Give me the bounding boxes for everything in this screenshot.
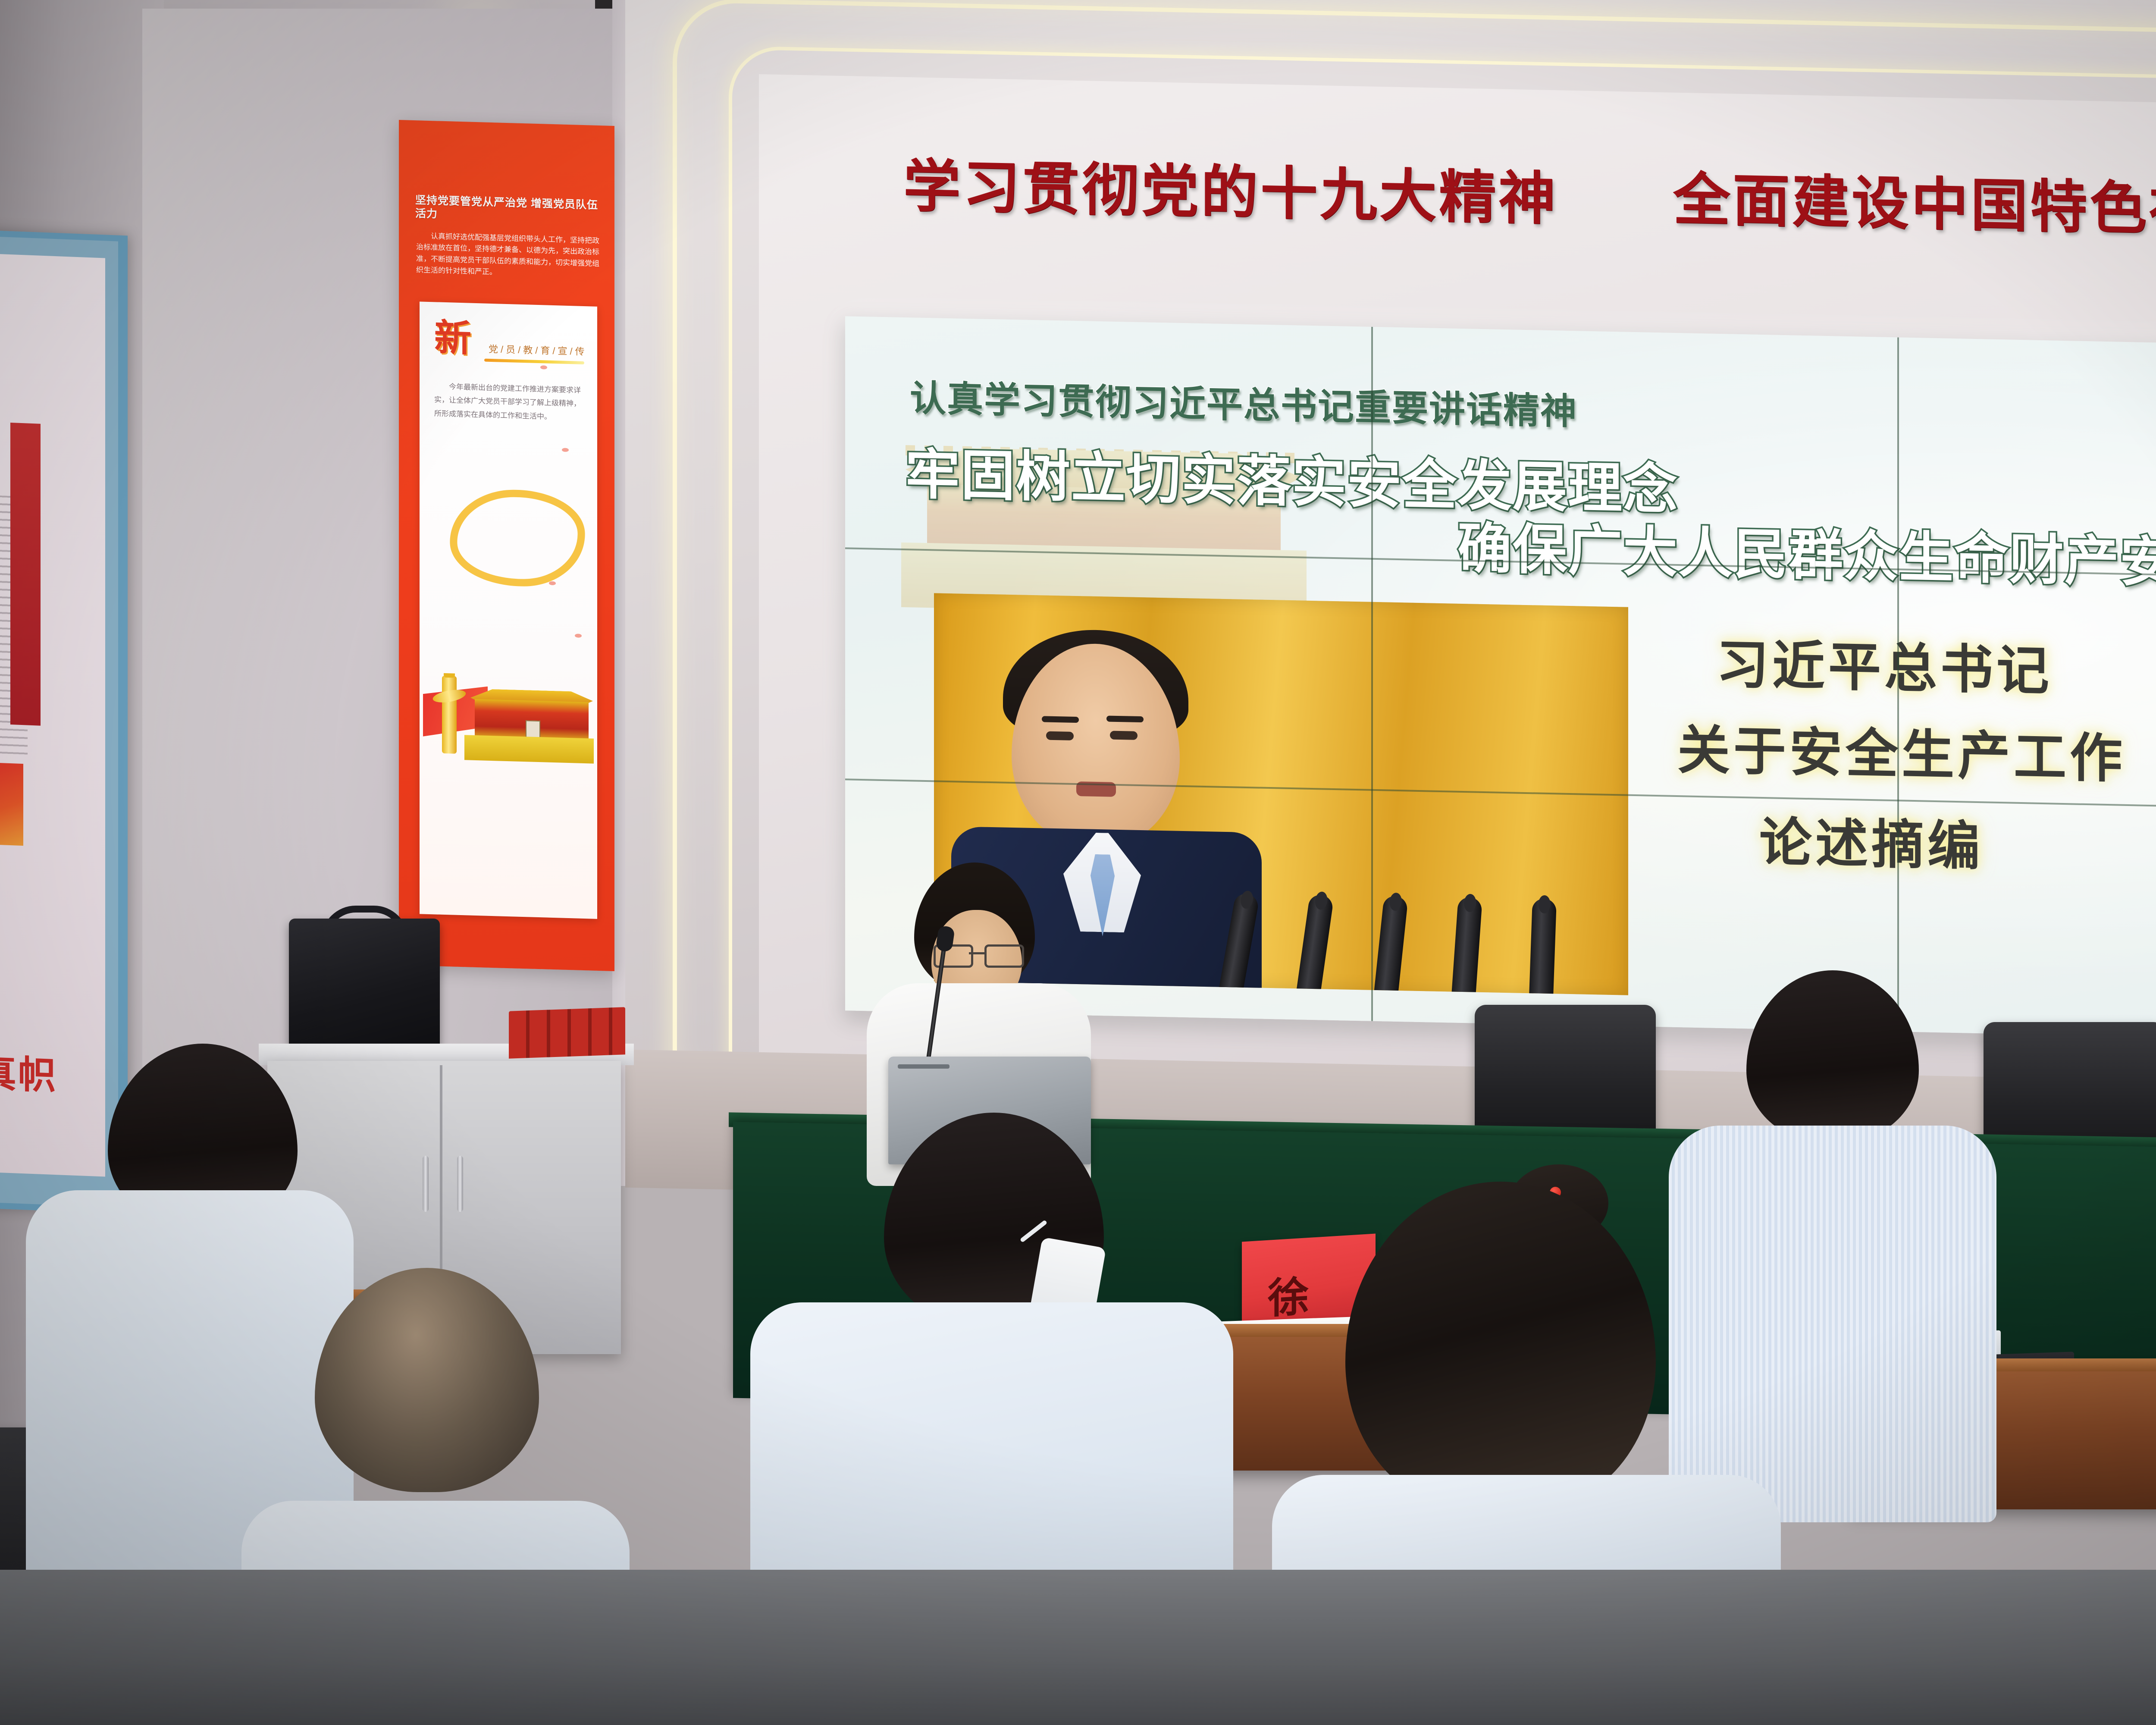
huabiao-pillar-icon bbox=[442, 676, 457, 754]
slide-right-line2: 关于安全生产工作 bbox=[1677, 707, 2126, 793]
podium-microphone-icon bbox=[1296, 893, 1334, 995]
banner-text-right: 全面建设中国特色社会主义 bbox=[1673, 153, 2156, 250]
podium-microphone-icon bbox=[1451, 896, 1482, 995]
lcd-video-wall[interactable]: ★ 认真学习贯彻习近平总书记重要讲话精神 牢固树立切实落实安全发展理念 确保广大… bbox=[845, 316, 2156, 1042]
attendee-right-torso bbox=[1669, 1126, 1996, 1522]
poster-inner-card: 新 党/员/教/育/宣/传 今年最新出台的党建工作推进方案要求详实，让全体广大党… bbox=[420, 301, 597, 919]
wall-poster: 坚持党要管党从严治党 增强党员队伍活力 认真抓好选优配强基层党组织带头人工作，坚… bbox=[399, 120, 614, 971]
side-display-content: 真帜 bbox=[0, 254, 105, 1177]
slide-right-line1: 习近平总书记 bbox=[1716, 622, 2053, 705]
meeting-room-photo: 真帜 坚持党要管党从严治党 增强党员队伍活力 认真抓好选优配强基层党组织带头人工… bbox=[0, 0, 2156, 1725]
cabinet-handle-left[interactable] bbox=[423, 1156, 429, 1212]
gold-brush-circle-icon bbox=[448, 489, 587, 587]
poster-card-subtitle: 党/员/教/育/宣/传 bbox=[489, 342, 587, 358]
floor bbox=[0, 1570, 2156, 1725]
poster-card-body: 今年最新出台的党建工作推进方案要求详实，让全体广大党员干部学习了解上级精神，所形… bbox=[434, 379, 583, 424]
cabinet-handle-right[interactable] bbox=[457, 1156, 463, 1212]
gate-portrait bbox=[526, 720, 540, 739]
poster-body-text: 认真抓好选优配强基层党组织带头人工作，坚持把政治标准放在首位，坚持德才兼备、以德… bbox=[416, 230, 602, 281]
slide-photo bbox=[934, 593, 1628, 995]
side-display-title: 真帜 bbox=[0, 1042, 58, 1100]
poster-heading: 坚持党要管党从严治党 增强党员队伍活力 bbox=[415, 194, 601, 226]
laptop-bag[interactable] bbox=[289, 919, 440, 1061]
videowall-bezel-vertical bbox=[1371, 327, 1373, 1021]
side-display-panel[interactable]: 真帜 bbox=[0, 230, 128, 1214]
podium-microphone-icon bbox=[1529, 898, 1557, 995]
videowall-bezel-vertical bbox=[1897, 337, 1899, 1032]
banner-text-left: 学习贯彻党的十九大精神 bbox=[903, 140, 1558, 235]
side-display-red-bar bbox=[10, 423, 41, 726]
side-display-photo bbox=[0, 762, 23, 846]
name-card-surname: 徐 bbox=[1268, 1263, 1309, 1325]
poster-card-rule bbox=[484, 359, 584, 364]
slide-headline-line2: 确保广大人民群众生命财产安全 bbox=[1457, 505, 2156, 599]
tiananmen-illustration-icon bbox=[423, 673, 594, 777]
poster-card-title: 新 bbox=[434, 321, 471, 356]
podium-microphone-icon bbox=[1374, 895, 1408, 995]
gate-base bbox=[464, 735, 594, 764]
red-document-folders[interactable] bbox=[509, 1007, 625, 1058]
slide-right-line3: 论述摘编 bbox=[1759, 800, 1984, 880]
